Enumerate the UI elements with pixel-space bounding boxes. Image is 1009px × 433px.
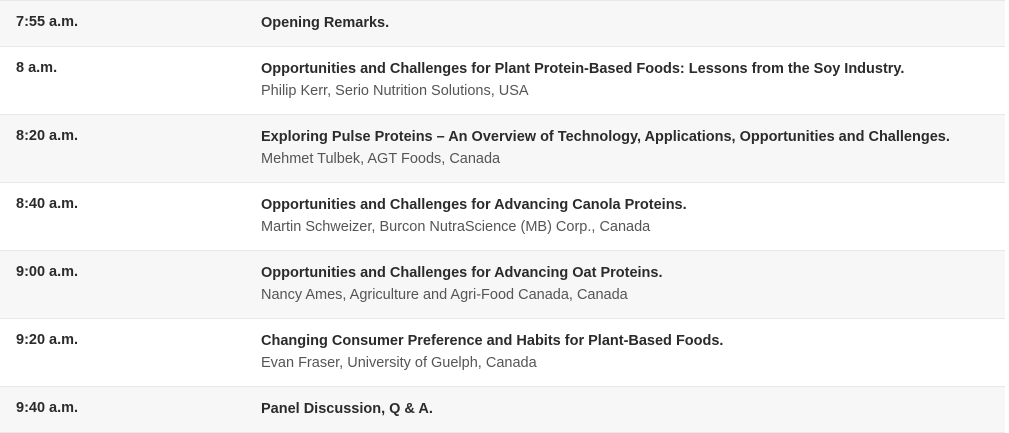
session-time: 9:40 a.m. [16, 400, 78, 416]
session-time: 7:55 a.m. [16, 14, 78, 30]
session-title: Panel Discussion, Q & A. [261, 400, 995, 418]
session-speaker: Philip Kerr, Serio Nutrition Solutions, … [261, 82, 995, 100]
session-time: 8:20 a.m. [16, 128, 78, 144]
session-time-cell: 8:20 a.m. [0, 115, 261, 183]
session-time: 9:00 a.m. [16, 264, 78, 280]
session-title: Opportunities and Challenges for Advanci… [261, 264, 995, 282]
session-title: Opening Remarks. [261, 14, 995, 32]
session-time: 8:40 a.m. [16, 196, 78, 212]
session-title: Opportunities and Challenges for Advanci… [261, 196, 995, 214]
session-speaker: Evan Fraser, University of Guelph, Canad… [261, 354, 995, 372]
session-detail-cell: Opportunities and Challenges for Advanci… [261, 183, 1005, 251]
table-row: 9:40 a.m. Panel Discussion, Q & A. [0, 387, 1005, 433]
table-row: 7:55 a.m. Opening Remarks. [0, 1, 1005, 47]
session-speaker: Nancy Ames, Agriculture and Agri-Food Ca… [261, 286, 995, 304]
table-row: 9:20 a.m. Changing Consumer Preference a… [0, 319, 1005, 387]
session-title: Exploring Pulse Proteins – An Overview o… [261, 128, 995, 146]
session-speaker: Mehmet Tulbek, AGT Foods, Canada [261, 150, 995, 168]
table-row: 8 a.m. Opportunities and Challenges for … [0, 47, 1005, 115]
table-row: 9:00 a.m. Opportunities and Challenges f… [0, 251, 1005, 319]
session-title: Opportunities and Challenges for Plant P… [261, 60, 995, 78]
session-time-cell: 8 a.m. [0, 47, 261, 115]
session-time-cell: 9:20 a.m. [0, 319, 261, 387]
session-time-cell: 7:55 a.m. [0, 1, 261, 47]
table-row: 8:40 a.m. Opportunities and Challenges f… [0, 183, 1005, 251]
session-time-cell: 9:40 a.m. [0, 387, 261, 433]
session-detail-cell: Opening Remarks. [261, 1, 1005, 47]
session-time: 8 a.m. [16, 60, 57, 76]
session-time-cell: 8:40 a.m. [0, 183, 261, 251]
session-title: Changing Consumer Preference and Habits … [261, 332, 995, 350]
agenda-table-body: 7:55 a.m. Opening Remarks. 8 a.m. Opport… [0, 1, 1005, 433]
session-detail-cell: Panel Discussion, Q & A. [261, 387, 1005, 433]
session-time: 9:20 a.m. [16, 332, 78, 348]
session-detail-cell: Exploring Pulse Proteins – An Overview o… [261, 115, 1005, 183]
session-detail-cell: Opportunities and Challenges for Plant P… [261, 47, 1005, 115]
session-detail-cell: Opportunities and Challenges for Advanci… [261, 251, 1005, 319]
session-time-cell: 9:00 a.m. [0, 251, 261, 319]
session-speaker: Martin Schweizer, Burcon NutraScience (M… [261, 218, 995, 236]
session-detail-cell: Changing Consumer Preference and Habits … [261, 319, 1005, 387]
agenda-table: 7:55 a.m. Opening Remarks. 8 a.m. Opport… [0, 0, 1005, 433]
table-row: 8:20 a.m. Exploring Pulse Proteins – An … [0, 115, 1005, 183]
